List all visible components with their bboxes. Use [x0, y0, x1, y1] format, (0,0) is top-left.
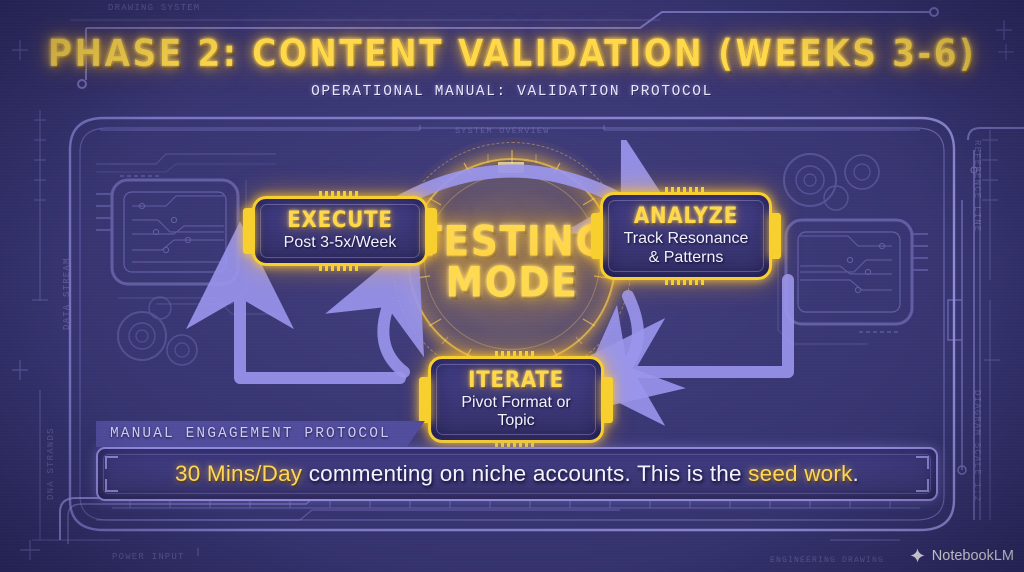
- corner-bracket-tl: [105, 456, 118, 469]
- node-tab-right: [769, 213, 781, 259]
- node-teeth-bottom: [665, 278, 707, 285]
- notebooklm-spark-icon: [909, 547, 926, 564]
- banner-highlight-start: 30 Mins/Day: [175, 461, 302, 486]
- page-header: PHASE 2: CONTENT VALIDATION (WEEKS 3-6) …: [0, 32, 1024, 100]
- banner-middle: commenting on niche accounts. This is th…: [302, 461, 748, 486]
- corner-bracket-tr: [916, 456, 929, 469]
- banner-tail: .: [853, 461, 859, 486]
- page-title: PHASE 2: CONTENT VALIDATION (WEEKS 3-6): [0, 32, 1024, 75]
- node-teeth-bottom: [319, 264, 361, 271]
- node-iterate-title: ITERATE: [447, 368, 585, 393]
- corner-bracket-bl: [105, 479, 118, 492]
- node-analyze[interactable]: ANALYZE Track Resonance & Patterns: [600, 192, 772, 280]
- top-edge-label: DRAWING SYSTEM: [108, 3, 200, 13]
- node-teeth-top: [319, 191, 361, 198]
- node-execute-subtitle: Post 3-5x/Week: [271, 234, 409, 252]
- node-iterate-subtitle: Pivot Format or Topic: [447, 394, 585, 429]
- node-analyze-subtitle-line1: Track Resonance: [619, 230, 753, 248]
- system-overview-label: SYSTEM OVERVIEW: [455, 126, 550, 136]
- node-tab-left: [243, 208, 255, 254]
- node-tab-right: [601, 377, 613, 423]
- edge-label-bottom-left: POWER INPUT: [112, 552, 185, 562]
- node-execute-title: EXECUTE: [271, 208, 409, 233]
- node-teeth-top: [665, 187, 707, 194]
- node-iterate[interactable]: ITERATE Pivot Format or Topic: [428, 356, 604, 443]
- node-tab-right: [425, 208, 437, 254]
- node-tab-left: [591, 213, 603, 259]
- node-analyze-subtitle-line2: & Patterns: [619, 249, 753, 267]
- protocol-tab-label: MANUAL ENGAGEMENT PROTOCOL: [96, 421, 425, 447]
- banner-text: 30 Mins/Day commenting on niche accounts…: [175, 461, 859, 487]
- notebooklm-watermark: NotebookLM: [909, 547, 1014, 564]
- hub-line-2: MODE: [397, 262, 627, 303]
- banner-highlight-end: seed work: [748, 461, 852, 486]
- node-analyze-title: ANALYZE: [619, 204, 753, 229]
- edge-label-left-lower: DNA STRANDS: [46, 427, 56, 500]
- engagement-banner: 30 Mins/Day commenting on niche accounts…: [96, 447, 938, 501]
- corner-bracket-br: [916, 479, 929, 492]
- node-teeth-top: [495, 351, 537, 358]
- page-subtitle: OPERATIONAL MANUAL: VALIDATION PROTOCOL: [0, 84, 1024, 100]
- notebooklm-label: NotebookLM: [932, 548, 1014, 564]
- node-execute[interactable]: EXECUTE Post 3-5x/Week: [252, 196, 428, 266]
- edge-label-bottom-right: ENGINEERING DRAWING: [770, 556, 884, 565]
- node-tab-left: [419, 377, 431, 423]
